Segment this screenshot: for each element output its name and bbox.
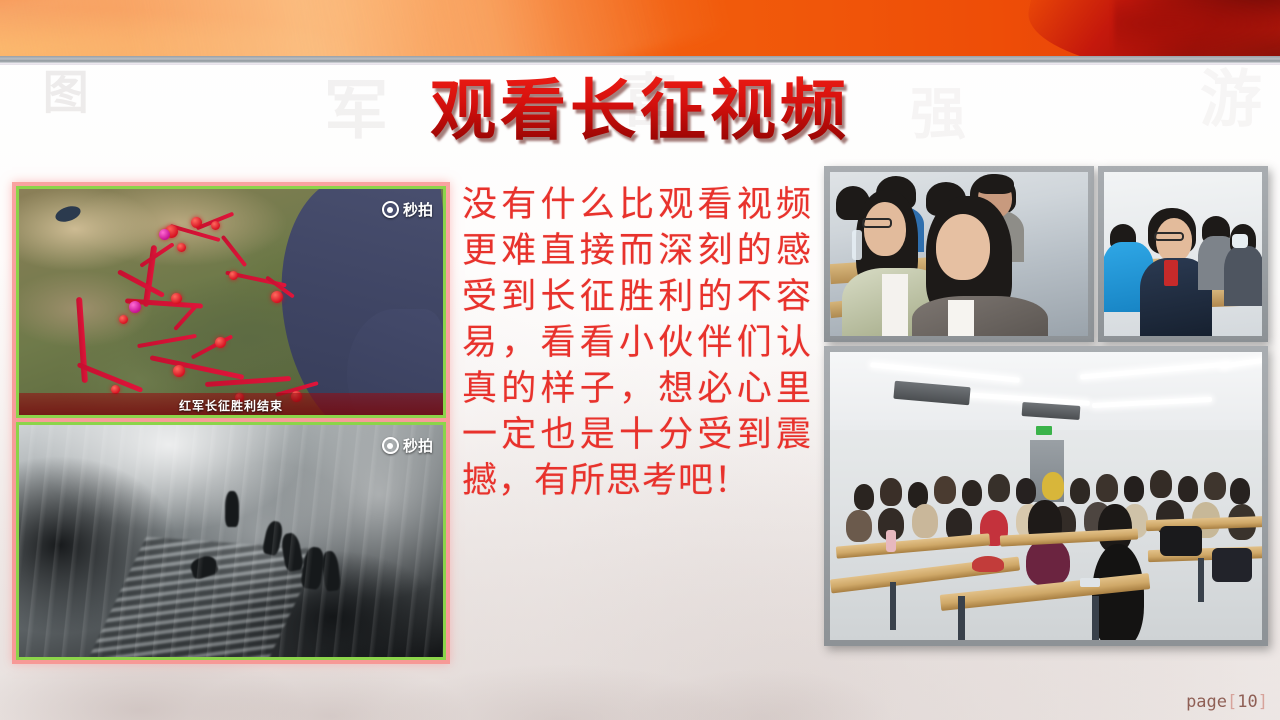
red-cap	[972, 556, 1004, 572]
page-title: 观看长征视频	[0, 76, 1280, 145]
film-grain	[19, 425, 443, 657]
video-watermark: 秒拍	[382, 199, 433, 220]
glasses	[862, 218, 892, 228]
aperture-icon	[382, 437, 399, 454]
smartphone	[1080, 578, 1100, 587]
photo-classroom[interactable]	[824, 346, 1268, 646]
video-thumbnail-long-march-map[interactable]: 红军长征胜利结束 秒拍	[16, 186, 446, 418]
aperture-icon	[382, 201, 399, 218]
backpack	[1212, 548, 1252, 582]
water-bottle	[886, 530, 896, 552]
video-watermark: 秒拍	[382, 435, 433, 456]
map-artwork: 红军长征胜利结束	[19, 189, 443, 415]
header-banner	[0, 0, 1280, 56]
face-mask	[1232, 234, 1248, 248]
banner-divider-lower	[0, 63, 1280, 65]
backpack	[1160, 526, 1202, 556]
red-scarf	[1164, 260, 1178, 286]
banner-red-ribbon-shadow	[1114, 0, 1280, 56]
watermark-label: 秒拍	[403, 199, 433, 220]
page-number-close-bracket: ]	[1258, 692, 1268, 712]
video-thumbnail-battle-footage[interactable]: 秒拍	[16, 422, 446, 660]
banner-divider	[0, 56, 1280, 63]
exit-sign	[1036, 426, 1052, 435]
photo-inner	[830, 172, 1088, 336]
body-paragraph: 没有什么比观看视频更难直接而深刻的感受到长征胜利的不容易，看看小伙伴们认真的样子…	[462, 182, 812, 504]
page-number-open-bracket: [	[1227, 692, 1237, 712]
page-number: page[10]	[1186, 692, 1268, 712]
photo-students-front[interactable]	[824, 166, 1094, 342]
page-number-value: 10	[1237, 692, 1257, 712]
video-frame-group: 红军长征胜利结束 秒拍 秒拍	[12, 182, 450, 664]
battle-artwork	[19, 425, 443, 657]
slide-canvas: 图 军 喜 强 游 观看长征视频	[0, 0, 1280, 720]
water-bottle	[852, 230, 862, 260]
glasses	[1154, 232, 1184, 241]
photo-students-side[interactable]	[1098, 166, 1268, 342]
video-caption: 红军长征胜利结束	[19, 397, 443, 414]
banner-light-ray	[311, 0, 688, 56]
photo-inner	[830, 352, 1262, 640]
photo-inner	[1104, 172, 1262, 336]
page-number-label: page	[1186, 692, 1227, 712]
watermark-label: 秒拍	[403, 435, 433, 456]
